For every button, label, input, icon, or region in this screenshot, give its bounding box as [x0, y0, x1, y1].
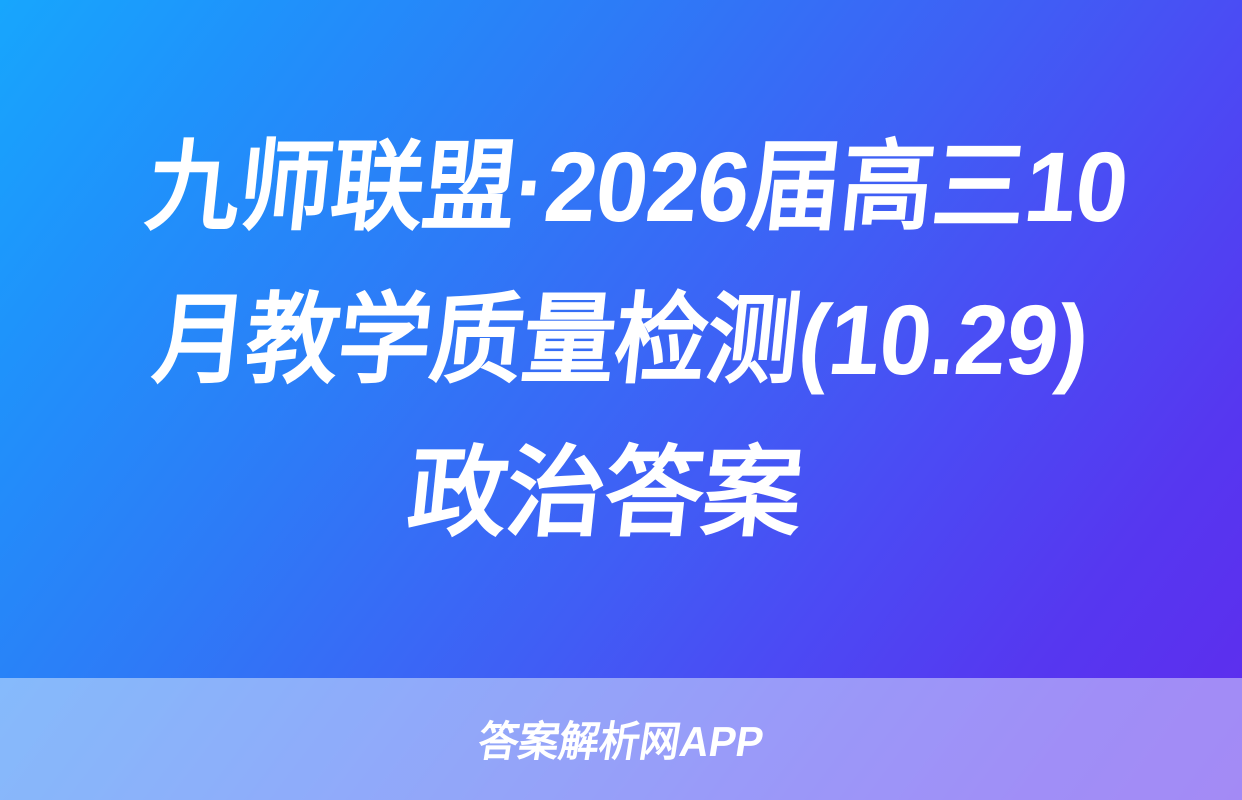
page-title: 九师联盟·2026届高三10 月教学质量检测(10.29) 政治答案: [66, 110, 1176, 569]
footer-watermark-band: 答案解析网APP: [0, 678, 1242, 800]
page-title-line-3: 政治答案: [66, 416, 1144, 569]
title-card-screen: 九师联盟·2026届高三10 月教学质量检测(10.29) 政治答案 答案解析网…: [0, 0, 1242, 800]
page-title-line-1: 九师联盟·2026届高三10: [130, 110, 1144, 263]
hero-gradient-panel: 九师联盟·2026届高三10 月教学质量检测(10.29) 政治答案: [0, 0, 1242, 678]
page-title-line-2: 月教学质量检测(10.29): [114, 263, 1128, 416]
app-watermark-label: 答案解析网APP: [474, 708, 768, 771]
